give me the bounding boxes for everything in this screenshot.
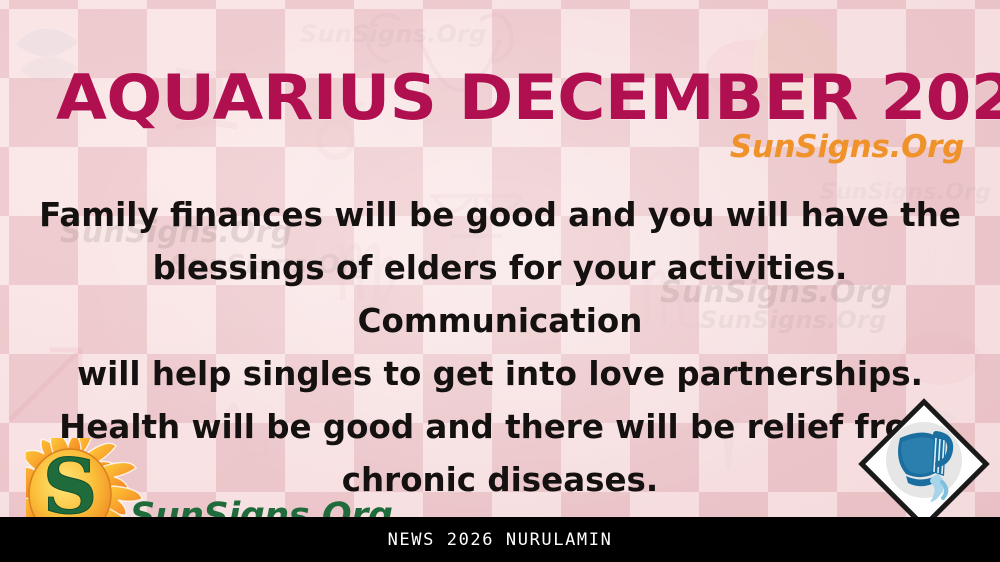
caption-text: NEWS 2026 NURULAMIN <box>388 530 613 550</box>
horoscope-poster: ♑ ♏ ♍ <box>0 0 1000 562</box>
body-line: will help singles to get into love partn… <box>25 347 975 400</box>
brand-name-top: SunSigns.Org <box>730 129 964 165</box>
caption-bar: NEWS 2026 NURULAMIN <box>0 517 1000 562</box>
aquarius-water-bearer-icon <box>858 398 990 530</box>
page-title: AQUARIUS DECEMBER 2025 <box>56 64 1000 132</box>
body-line: Family finances will be good and you wil… <box>25 188 975 241</box>
body-line: blessings of elders for your activities.… <box>25 241 975 347</box>
